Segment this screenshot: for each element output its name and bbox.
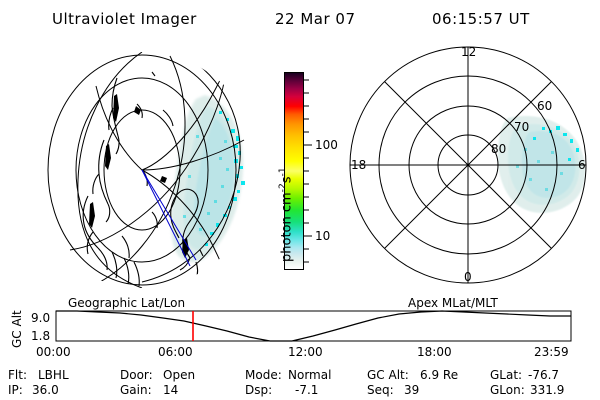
orbit-altitude-plot <box>0 0 600 400</box>
status-door-label: Door: <box>120 368 153 382</box>
status-gain-value: 14 <box>163 383 178 397</box>
status-flt-label: Flt: <box>8 368 27 382</box>
status-flt-value: LBHL <box>38 368 69 382</box>
status-seq-label: Seq: <box>367 383 394 397</box>
orbit-xtick-1800: 18:00 <box>417 345 452 359</box>
status-glat-label: GLat: <box>490 368 522 382</box>
status-gcalt-value: 6.9 Re <box>420 368 458 382</box>
status-gcalt-label: GC Alt: <box>367 368 409 382</box>
status-glon-label: GLon: <box>490 383 525 397</box>
orbit-xtick-0600: 06:00 <box>158 345 193 359</box>
status-glat-value: -76.7 <box>528 368 559 382</box>
status-mode-label: Mode: <box>245 368 282 382</box>
status-ip-value: 36.0 <box>32 383 59 397</box>
status-dsp-value: -7.1 <box>295 383 318 397</box>
status-ip-label: IP: <box>8 383 23 397</box>
status-seq-value: 39 <box>404 383 419 397</box>
orbit-xtick-1200: 12:00 <box>288 345 323 359</box>
status-gain-label: Gain: <box>120 383 152 397</box>
orbit-xtick-0000: 00:00 <box>36 345 71 359</box>
orbit-xtick-2359: 23:59 <box>534 345 569 359</box>
status-mode-value: Normal <box>288 368 331 382</box>
uvi-display: Ultraviolet Imager 22 Mar 07 06:15:57 UT <box>0 0 600 400</box>
status-dsp-label: Dsp: <box>245 383 272 397</box>
status-door-value: Open <box>163 368 195 382</box>
status-glon-value: 331.9 <box>530 383 564 397</box>
